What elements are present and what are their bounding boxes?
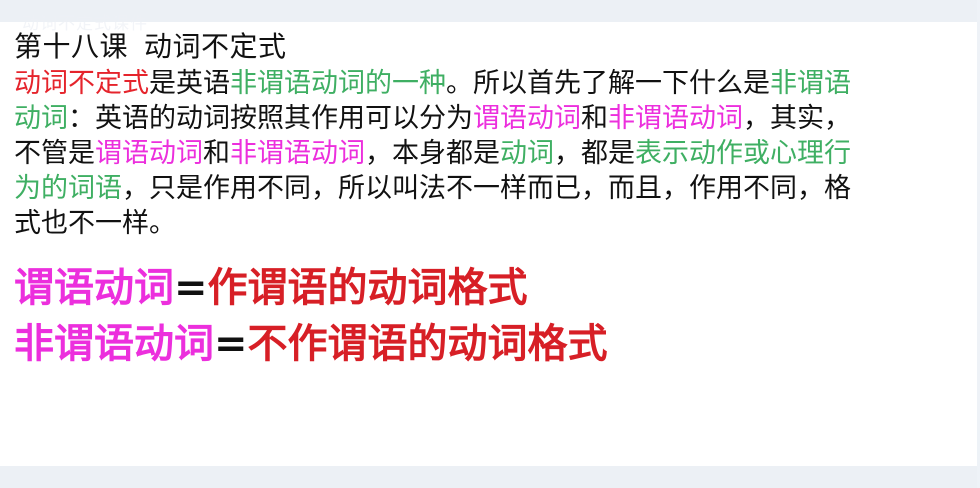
text-run: 动词 xyxy=(14,103,68,134)
text-run: 为的词语 xyxy=(14,173,122,204)
text-run: ，只是作用不同，所以叫法不一样而已，而且，作用不同，格 xyxy=(122,173,851,204)
paragraph-line: 动词：英语的动词按照其作用可以分为谓语动词和非谓语动词，其实， xyxy=(14,101,964,136)
text-run: 动词不定式 xyxy=(14,68,149,99)
slide-content: 第十八课动词不定式 动词不定式是英语非谓语动词的一种。所以首先了解一下什么是非谓… xyxy=(0,22,980,466)
text-run: 动词 xyxy=(500,138,554,169)
big-statement-predicate-verb: 谓语动词=作谓语的动词格式 xyxy=(14,263,966,313)
big-statement-subject: 谓语动词 xyxy=(14,264,174,311)
text-run: 非谓语 xyxy=(770,68,851,99)
text-run: 不管是 xyxy=(14,138,95,169)
title-lesson-number: 第十八课 xyxy=(14,30,128,63)
text-run: ，都是 xyxy=(554,138,635,169)
text-run: ：英语的动词按照其作用可以分为 xyxy=(68,103,473,134)
text-run: 谓语动词 xyxy=(95,138,203,169)
big-statement-definition: 不作谓语的动词格式 xyxy=(248,320,608,367)
paragraph-line: 不管是谓语动词和非谓语动词，本身都是动词，都是表示动作或心理行 xyxy=(14,136,964,171)
text-run: 和 xyxy=(581,103,608,134)
slide-frame: 动词不定式课件 第十八课动词不定式 动词不定式是英语非谓语动词的一种。所以首先了… xyxy=(0,0,980,488)
text-run: 表示动作或心理行 xyxy=(635,138,851,169)
big-statement-non-predicate-verb: 非谓语动词=不作谓语的动词格式 xyxy=(14,319,966,369)
text-run: 非谓语动词的一种 xyxy=(230,68,446,99)
paragraph-line: 式也不一样。 xyxy=(14,206,964,241)
body-paragraph: 动词不定式是英语非谓语动词的一种。所以首先了解一下什么是非谓语 动词：英语的动词… xyxy=(14,66,964,241)
text-run: ，本身都是 xyxy=(365,138,500,169)
title-topic: 动词不定式 xyxy=(144,30,287,63)
text-run: 非谓语动词 xyxy=(230,138,365,169)
text-run: 。所以首先了解一下什么是 xyxy=(446,68,770,99)
big-statement-definition: 作谓语的动词格式 xyxy=(208,264,528,311)
big-statement-equals: = xyxy=(214,320,248,367)
paragraph-line: 为的词语，只是作用不同，所以叫法不一样而已，而且，作用不同，格 xyxy=(14,171,964,206)
text-run: 和 xyxy=(203,138,230,169)
text-run: 谓语动词 xyxy=(473,103,581,134)
text-run: 是英语 xyxy=(149,68,230,99)
text-run: 非谓语动词 xyxy=(608,103,743,134)
big-statement-equals: = xyxy=(174,264,208,311)
big-statement-subject: 非谓语动词 xyxy=(14,320,214,367)
text-run: 式也不一样。 xyxy=(14,208,176,239)
page-title: 第十八课动词不定式 xyxy=(14,30,966,64)
paragraph-line: 动词不定式是英语非谓语动词的一种。所以首先了解一下什么是非谓语 xyxy=(14,66,964,101)
text-run: ，其实， xyxy=(743,103,851,134)
bottom-letterbox-band xyxy=(0,466,980,488)
